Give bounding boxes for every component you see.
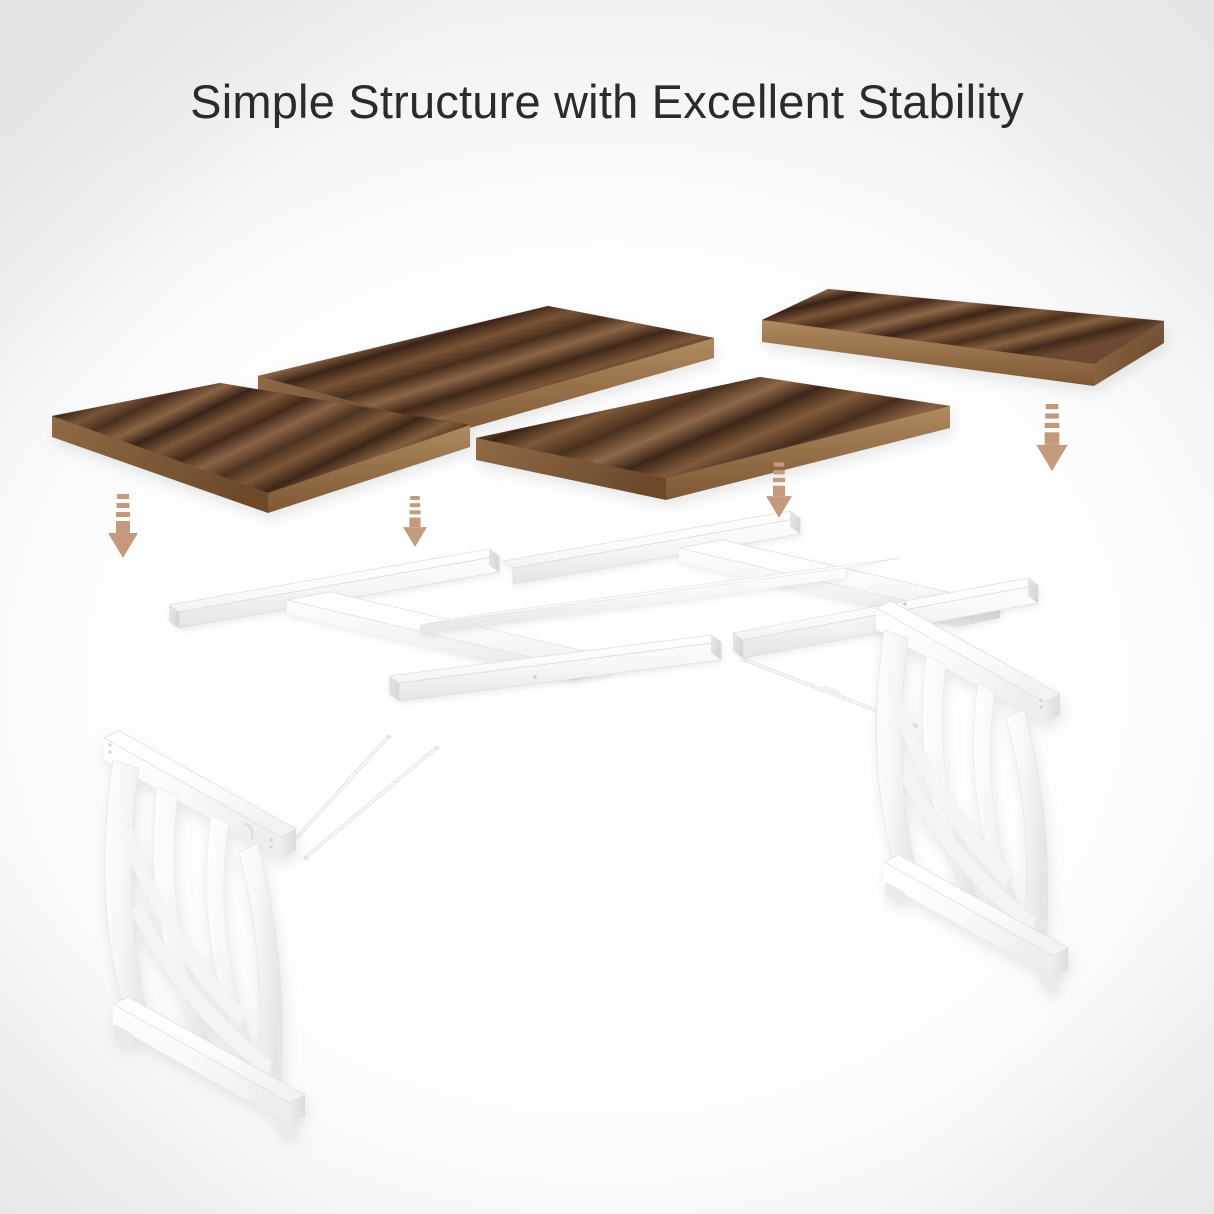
brace-rod-2 — [304, 746, 440, 861]
assembly-arrow-2 — [403, 496, 427, 547]
assembly-arrow-4 — [1036, 404, 1067, 471]
page-title: Simple Structure with Excellent Stabilit… — [0, 74, 1214, 129]
leg-trestle-right — [876, 601, 1068, 993]
leg-trestle-left — [104, 731, 305, 1140]
product-diagram-canvas: Simple Structure with Excellent Stabilit… — [0, 0, 1214, 1214]
panel-back-right — [762, 289, 1164, 386]
brace-rod-1 — [282, 735, 392, 856]
assembly-arrow-1 — [108, 494, 138, 558]
exploded-view-illustration — [0, 0, 1214, 1214]
